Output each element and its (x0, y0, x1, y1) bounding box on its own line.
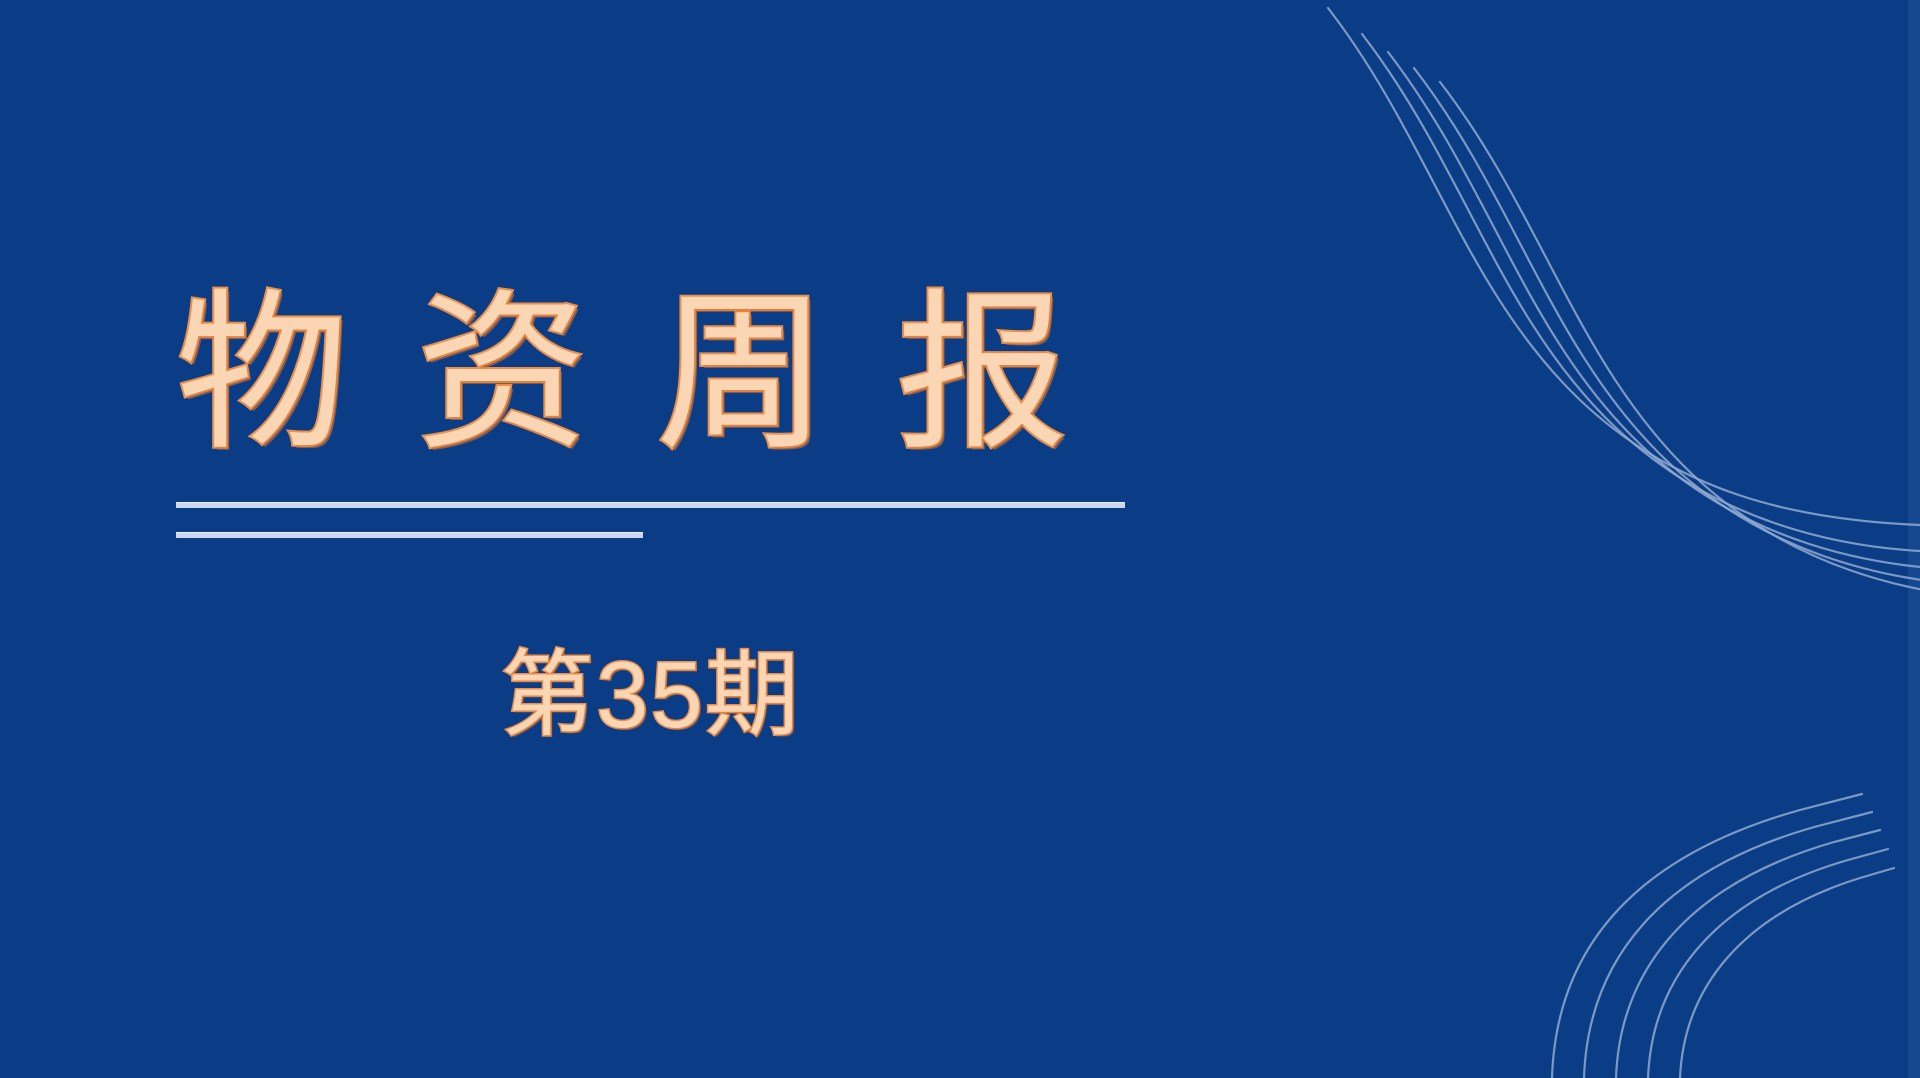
issue-number: 第35期 (176, 648, 1125, 742)
cover-content: 物资周报 第35期 (0, 0, 1920, 1078)
cover-slide: 物资周报 第35期 (0, 0, 1920, 1078)
title-rule-short (176, 532, 643, 538)
title-rule-long (176, 502, 1125, 508)
page-title: 物资周报 (176, 288, 1136, 460)
